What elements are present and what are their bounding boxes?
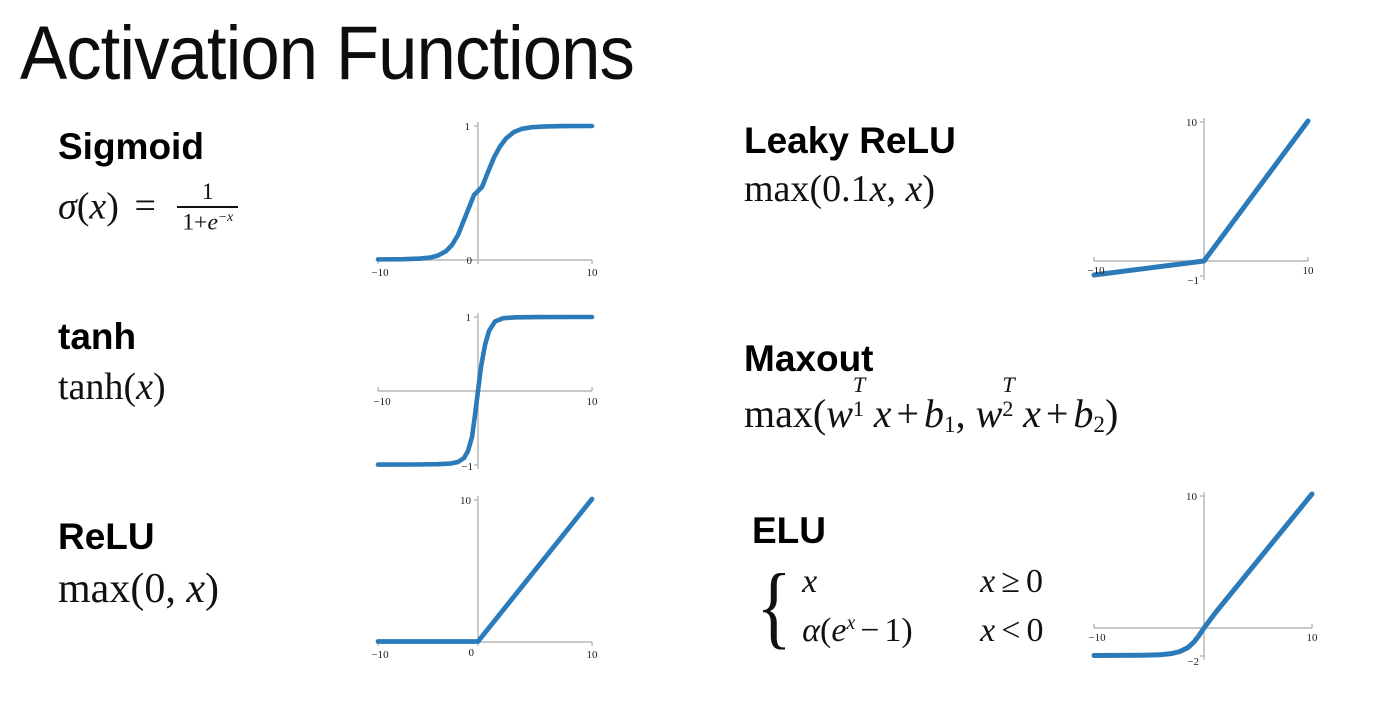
elu-piecewise-formula: { x x≥0 α(ex−1) x<0 [752,557,1043,656]
max-fn: max [744,391,813,436]
one-literal: 1 [884,612,901,649]
elu-expr-alpha: α(ex−1) [802,606,980,655]
cond-operator-geq: ≥ [1001,563,1020,600]
y-tick-label-bottom: −1 [1187,275,1199,287]
tanh-block: tanh tanh(x) [58,318,166,408]
leaky-relu-title: Leaky ReLU [744,122,956,161]
x-tick-label-left: −10 [1087,265,1105,277]
elu-block: ELU { x x≥0 α(ex−1) x<0 [752,512,1043,655]
tanh-title: tanh [58,318,166,357]
relu-axes [378,496,592,646]
x-tick-label-right: 10 [587,649,599,661]
x-tick-label-left: −10 [1088,632,1106,644]
lparen: ( [809,168,822,210]
y-tick-label-top: 10 [460,495,472,507]
relu-title: ReLU [58,518,219,557]
tanh-plot-svg: 1 −1 −10 10 [364,305,609,477]
sigmoid-formula: σ(x) = 1 1+e−x [58,179,238,236]
sigmoid-fraction: 1 1+e−x [177,179,238,236]
x-tick-label-left: −10 [371,649,389,661]
plus-sign-second: + [1046,391,1069,436]
equals-sign: = [134,185,155,227]
w1-transpose-index: T1 [853,387,874,427]
y-tick-label-zero: 0 [467,255,473,267]
rparen: ) [901,612,912,649]
elu-cond-negative: x<0 [980,606,1043,655]
elu-plot-svg: 10 −2 −10 10 [1080,478,1330,673]
lparen: ( [77,185,90,227]
variable-x-second: x [1023,391,1041,436]
bias-b2: b [1073,391,1093,436]
variable-x: x [874,391,892,436]
tanh-plot: 1 −1 −10 10 [364,305,609,477]
variable-x: x [186,566,205,612]
elu-axes [1094,492,1312,660]
denominator-exponent: −x [218,209,233,224]
y-tick-label-bottom: −2 [1187,656,1199,668]
denominator-e: e [207,210,217,236]
y-tick-label-top: 10 [1186,117,1198,129]
x-tick-label-right: 10 [1307,632,1319,644]
plus-sign: + [896,391,919,436]
tanh-axes [378,313,592,469]
fraction-denominator: 1+e−x [177,206,238,236]
comma: , [956,391,966,436]
transpose-symbol: T [853,373,865,397]
euler-e: e [831,612,846,649]
leaky-relu-plot: 10 −1 −10 10 [1068,104,1323,294]
max-fn: max [58,566,130,612]
e-exponent-x: x [846,612,855,634]
comma: , [886,168,896,210]
relu-formula: max(0, x) [58,567,219,612]
elu-case-negative: α(ex−1) x<0 [802,606,1043,655]
sigma-symbol: σ [58,185,77,227]
sigmoid-plot-svg: 1 0 −10 10 [364,112,609,282]
x-tick-label-left: −10 [371,267,389,279]
max-fn: max [744,168,809,210]
b1-subscript: 1 [944,412,956,438]
cond-value: 0 [1026,612,1043,649]
leaky-relu-formula: max(0.1x, x) [744,169,956,210]
subscript-one: 1 [853,397,864,421]
subscript-two: 2 [1002,397,1013,421]
elu-curve [1094,494,1312,656]
page-title: Activation Functions [20,16,634,92]
left-brace: { [756,578,791,635]
elu-title: ELU [752,512,1043,551]
comma: , [165,566,176,612]
y-tick-label-top: 10 [1186,491,1198,503]
leaky-relu-curve [1094,121,1308,275]
lparen: ( [813,391,826,436]
x-tick-label-left: −10 [373,396,391,408]
x-tick-label-right: 10 [587,267,599,279]
rparen: ) [205,566,219,612]
sigmoid-axes [378,122,592,264]
variable-x: x [870,168,887,210]
weight-w1: w [826,391,853,436]
y-tick-label-bottom: −1 [461,461,473,473]
cond-value: 0 [1026,563,1043,600]
sigmoid-curve [378,126,592,259]
leaky-relu-block: Leaky ReLU max(0.1x, x) [744,122,956,210]
lparen: ( [130,566,144,612]
sigmoid-title: Sigmoid [58,128,238,167]
elu-expr-x: x [802,557,980,606]
elu-plot: 10 −2 −10 10 [1080,478,1330,673]
variable-x: x [89,185,106,227]
x-tick-label-right: 10 [1303,265,1315,277]
denominator-one: 1+ [182,210,207,236]
lparen: ( [123,366,136,408]
leaky-relu-axes [1094,118,1308,280]
cond-var: x [980,612,995,649]
rparen: ) [153,366,166,408]
maxout-formula: max(wT1x+b1, wT2x+b2) [744,387,1118,438]
relu-arg-zero: 0 [144,566,165,612]
weight-w2: w [976,391,1003,436]
alpha-symbol: α [802,612,820,649]
elu-cond-positive: x≥0 [980,557,1043,606]
b2-subscript: 2 [1093,412,1105,438]
variable-x: x [136,366,153,408]
relu-plot-svg: 10 0 −10 10 [364,484,609,669]
cond-operator-lt: < [1001,612,1020,649]
rparen: ) [922,168,935,210]
relu-plot: 10 0 −10 10 [364,484,609,669]
relu-block: ReLU max(0, x) [58,518,219,612]
variable-x-second: x [905,168,922,210]
y-tick-label-top: 1 [466,312,472,324]
y-tick-label-top: 1 [465,121,471,133]
elu-cases: x x≥0 α(ex−1) x<0 [802,557,1043,656]
y-tick-label-zero: 0 [469,647,475,659]
x-tick-label-right: 10 [587,396,599,408]
lparen: ( [820,612,831,649]
relu-curve [378,499,592,642]
elu-case-positive: x x≥0 [802,557,1043,606]
fraction-numerator: 1 [177,179,238,206]
rparen: ) [106,185,119,227]
leaky-relu-plot-svg: 10 −1 −10 10 [1068,104,1323,294]
maxout-title: Maxout [744,340,1118,379]
sigmoid-plot: 1 0 −10 10 [364,112,609,282]
w2-transpose-index: T2 [1002,387,1023,427]
leaky-coefficient: 0.1 [822,168,870,210]
bias-b1: b [924,391,944,436]
rparen: ) [1105,391,1118,436]
maxout-block: Maxout max(wT1x+b1, wT2x+b2) [744,340,1118,438]
cond-var: x [980,563,995,600]
tanh-fn: tanh [58,366,123,408]
minus-sign: − [860,612,879,649]
tanh-formula: tanh(x) [58,367,166,408]
sigmoid-block: Sigmoid σ(x) = 1 1+e−x [58,128,238,236]
transpose-symbol: T [1002,373,1014,397]
